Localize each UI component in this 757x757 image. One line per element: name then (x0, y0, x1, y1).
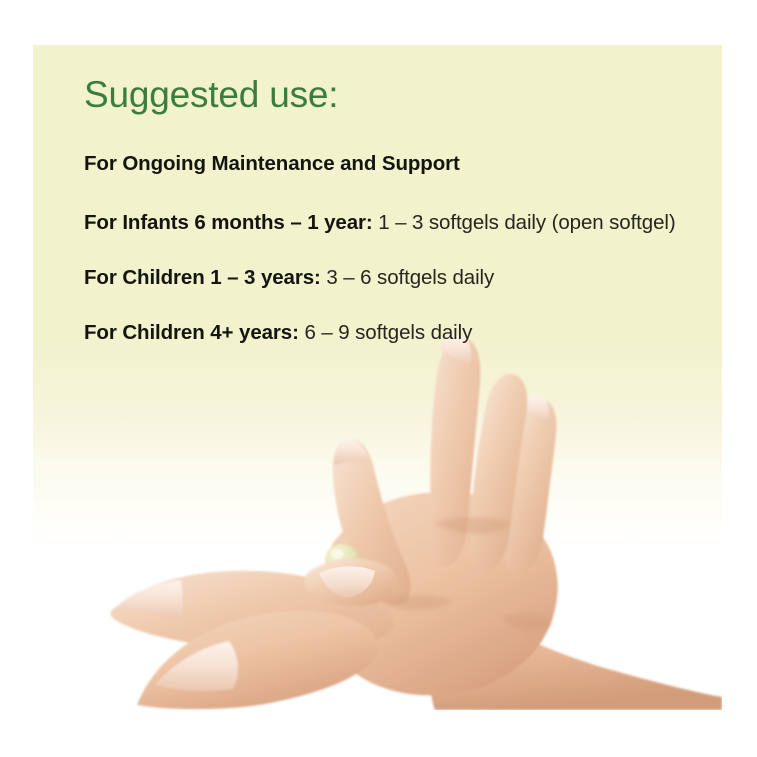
image-canvas: Suggested use: For Ongoing Maintenance a… (0, 0, 757, 757)
dosing-value-children-1-3: 3 – 6 softgels daily (321, 266, 494, 289)
dosing-row-children-4plus: For Children 4+ years: 6 – 9 softgels da… (84, 319, 684, 347)
dosing-row-children-1-3: For Children 1 – 3 years: 3 – 6 softgels… (84, 264, 684, 292)
dosing-value-infants: 1 – 3 softgels daily (open softgel) (373, 211, 676, 234)
page-title: Suggested use: (84, 73, 684, 117)
content-panel: Suggested use: For Ongoing Maintenance a… (33, 45, 722, 710)
intro-line: For Ongoing Maintenance and Support (84, 150, 684, 178)
dosing-value-children-4plus: 6 – 9 softgels daily (299, 321, 472, 344)
suggested-use-text-block: Suggested use: For Ongoing Maintenance a… (84, 73, 684, 347)
dosing-label-infants: For Infants 6 months – 1 year: (84, 211, 373, 234)
dosing-row-infants: For Infants 6 months – 1 year: 1 – 3 sof… (84, 209, 684, 237)
softgel-capsule (325, 544, 359, 576)
dosing-label-children-1-3: For Children 1 – 3 years: (84, 266, 321, 289)
dosing-label-children-4plus: For Children 4+ years: (84, 321, 299, 344)
